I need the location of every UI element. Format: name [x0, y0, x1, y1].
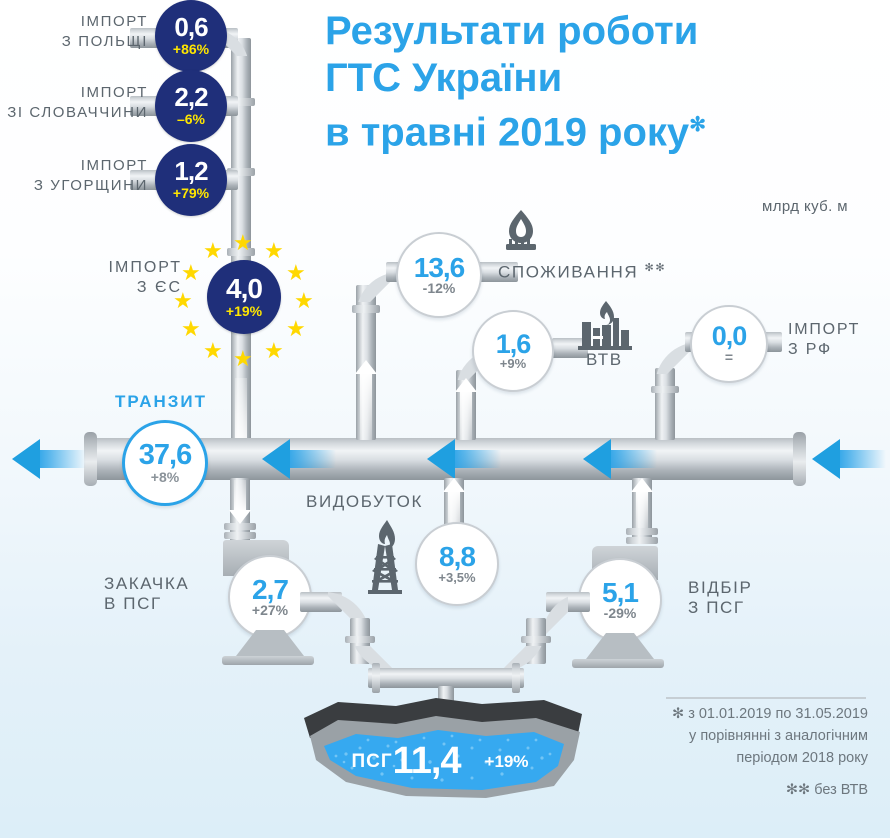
units-label: млрд куб. м [762, 198, 848, 215]
import-poland-label: ІМПОРТ З ПОЛЬЩІ [0, 12, 148, 52]
withdrawal-flange-b [626, 537, 658, 544]
vtv-change: +9% [500, 357, 526, 370]
transit-change: +8% [151, 470, 179, 484]
import-rf-value: 0,0 [712, 324, 747, 349]
import-rf-label: ІМПОРТ З РФ [788, 320, 860, 360]
consumption-change: -12% [423, 281, 456, 295]
withdrawal-node[interactable]: 5,1 -29% [578, 558, 662, 642]
footnote-line-3: періодом 2018 року [600, 747, 868, 769]
flow-arrow-out-left [12, 439, 86, 479]
import-eu-value: 4,0 [226, 276, 262, 302]
import-hungary-change: +79% [173, 186, 209, 200]
transit-node[interactable]: 37,6 +8% [122, 420, 208, 506]
production-node[interactable]: 8,8 +3,5% [415, 522, 499, 606]
withdrawal-flange-a [626, 528, 658, 535]
storage-readout: ПСГ11,4+19% [300, 740, 580, 783]
storage-label: ПСГ [352, 751, 393, 772]
injection-flow-arrow [230, 480, 250, 524]
import-slovakia-label: ІМПОРТ ЗІ СЛОВАЧЧИНИ [0, 83, 148, 123]
industrial-plant-icon [578, 300, 632, 350]
flow-arrow-main-1 [262, 439, 336, 479]
flow-arrow-main-3 [583, 439, 657, 479]
import-eu-label: ІМПОРТ З ЄС [62, 258, 182, 298]
injection-flange-a [224, 523, 256, 530]
import-node-slovakia[interactable]: 2,2 –6% [155, 70, 227, 142]
footnote-line-4: ✻✻ без ВТВ [600, 779, 868, 801]
page-title: Результати роботи ГТС України в травні 2… [325, 8, 845, 156]
storage-change: +19% [485, 752, 529, 771]
production-label: ВИДОБУТОК [306, 492, 423, 512]
production-change: +3,5% [438, 571, 475, 584]
title-line-2: ГТС України [325, 55, 845, 102]
injection-label: ЗАКАЧКА В ПСГ [104, 574, 189, 614]
import-hungary-value: 1,2 [174, 160, 207, 184]
footnote-divider [666, 697, 866, 699]
derrick-flame-icon [362, 520, 410, 596]
vtv-node[interactable]: 1,6 +9% [472, 310, 554, 392]
injection-value: 2,7 [252, 577, 288, 603]
gas-burner-icon [500, 208, 542, 254]
transit-value: 37,6 [139, 442, 191, 469]
import-rf-change: = [725, 350, 733, 364]
infographic-canvas: Результати роботи ГТС України в травні 2… [0, 0, 890, 838]
import-rf-node[interactable]: 0,0 = [690, 305, 768, 383]
title-line-1: Результати роботи [325, 8, 845, 55]
storage-value: 11,4 [393, 740, 461, 782]
withdrawal-inlet-flange [521, 636, 551, 643]
withdrawal-flow-arrow [632, 478, 652, 530]
injection-change: +27% [252, 603, 288, 617]
injection-base-plate [222, 656, 314, 665]
footnote-block: ✻ з 01.01.2019 по 31.05.2019 у порівнянн… [600, 703, 868, 801]
consumption-node[interactable]: 13,6 -12% [396, 232, 482, 318]
withdrawal-base-plate [572, 659, 664, 668]
production-value: 8,8 [439, 544, 475, 570]
pipeline-cap-right [793, 432, 806, 486]
rf-riser-flange [651, 386, 679, 393]
consumption-label: СПОЖИВАННЯ ✻✻ [498, 258, 666, 283]
injection-outlet-flange [345, 636, 375, 643]
withdrawal-base-cone [586, 633, 654, 659]
footnote-line-1: ✻ з 01.01.2019 по 31.05.2019 [600, 703, 868, 725]
import-slovakia-value: 2,2 [174, 86, 207, 110]
import-node-eu-total[interactable]: 4,0 +19% [207, 260, 281, 334]
vtv-flow-arrow [456, 378, 476, 440]
consumption-value: 13,6 [414, 255, 465, 281]
manifold-flange-right [512, 663, 520, 693]
storage-manifold-pipe [368, 668, 524, 688]
withdrawal-value: 5,1 [602, 580, 638, 606]
withdrawal-label: ВІДБІР З ПСГ [688, 578, 752, 618]
import-slovakia-change: –6% [177, 112, 205, 126]
import-eu-change: +19% [226, 304, 262, 318]
footnote-line-2: у порівнянні з аналогічним [600, 725, 868, 747]
withdrawal-change: -29% [604, 606, 637, 620]
title-asterisk: ✻ [689, 114, 706, 136]
vtv-label: ВТВ [586, 350, 623, 370]
title-line-3: в травні 2019 року [325, 110, 689, 154]
injection-base-cone [236, 630, 304, 656]
import-node-hungary[interactable]: 1,2 +79% [155, 144, 227, 216]
vtv-value: 1,6 [496, 332, 531, 357]
rf-riser-pipe [655, 368, 675, 440]
transit-label: ТРАНЗИТ [115, 392, 207, 412]
manifold-flange-left [372, 663, 380, 693]
flow-arrow-in-right [812, 439, 886, 479]
consumption-footmark: ✻✻ [645, 262, 667, 274]
flow-arrow-main-2 [427, 439, 501, 479]
injection-flange-b [224, 532, 256, 539]
import-poland-change: +86% [173, 42, 209, 56]
consumption-riser-flange [352, 305, 380, 313]
import-hungary-label: ІМПОРТ З УГОРЩИНИ [0, 156, 148, 196]
import-node-poland[interactable]: 0,6 +86% [155, 0, 227, 72]
import-poland-value: 0,6 [174, 16, 207, 40]
consumption-flow-arrow [356, 360, 376, 440]
